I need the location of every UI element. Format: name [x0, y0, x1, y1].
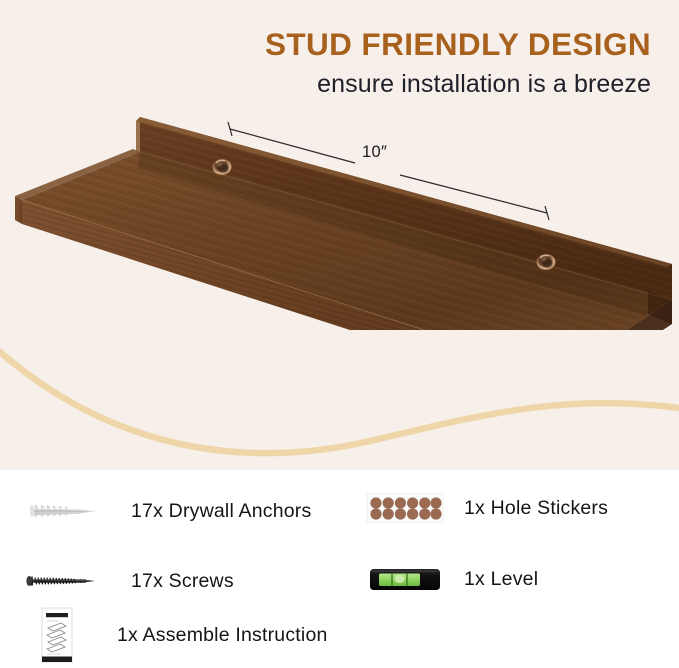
instruction-booklet-icon — [35, 606, 79, 664]
mounting-hole-right — [537, 254, 556, 270]
list-item: 1x Hole Stickers — [366, 485, 666, 531]
list-item-label: 1x Assemble Instruction — [117, 624, 328, 647]
list-item-label: 1x Hole Stickers — [464, 497, 608, 520]
list-item: 1x Assemble Instruction — [35, 605, 395, 665]
list-item-label: 17x Drywall Anchors — [131, 500, 311, 523]
screw-icon — [22, 566, 106, 596]
product-infographic: STUD FRIENDLY DESIGN ensure installation… — [0, 0, 679, 668]
page-title: STUD FRIENDLY DESIGN — [0, 26, 679, 63]
list-item-label: 1x Level — [464, 568, 538, 591]
bubble-level-icon — [366, 562, 444, 596]
page-subtitle: ensure installation is a breeze — [0, 70, 679, 99]
list-item: 17x Drywall Anchors — [22, 488, 342, 534]
list-item: 17x Screws — [22, 558, 342, 604]
hero-section: STUD FRIENDLY DESIGN ensure installation… — [0, 0, 679, 470]
list-item: 1x Level — [366, 556, 666, 602]
parts-list-section: 17x Drywall Anchors — [0, 470, 679, 668]
list-item-label: 17x Screws — [131, 570, 234, 593]
dimension-label: 10″ — [362, 143, 387, 162]
mounting-hole-left — [213, 159, 232, 175]
hole-stickers-icon — [366, 491, 444, 525]
drywall-anchor-icon — [22, 496, 106, 526]
